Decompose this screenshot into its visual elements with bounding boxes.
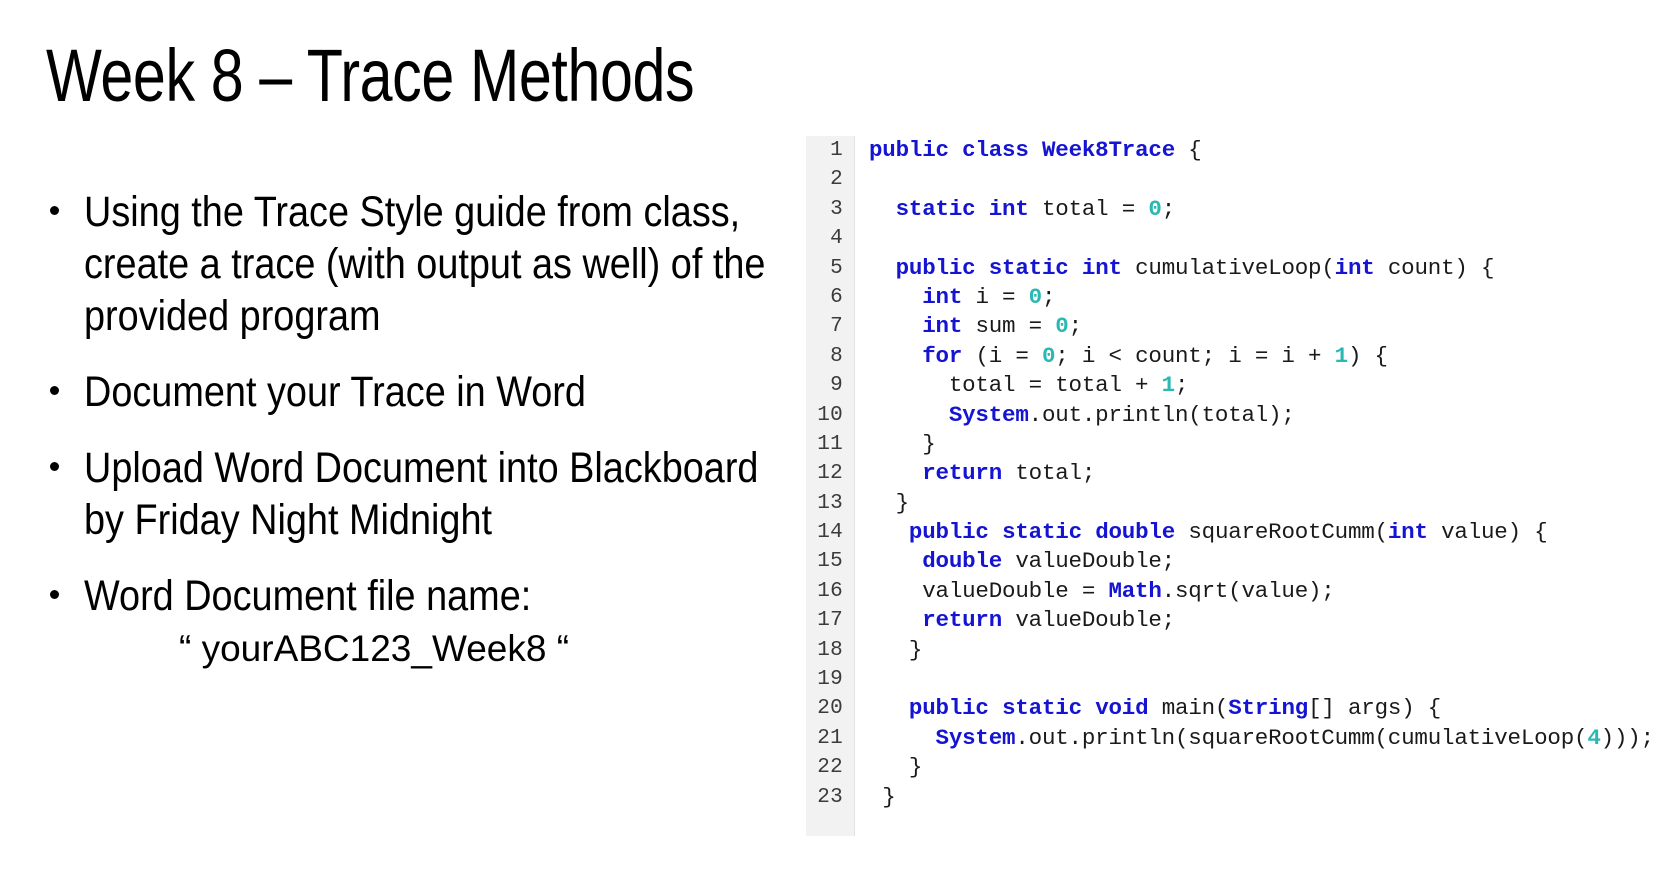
- list-item: Using the Trace Style guide from class, …: [34, 186, 804, 342]
- bullet-list: Using the Trace Style guide from class, …: [34, 186, 804, 696]
- bullet-dot-icon: [50, 386, 59, 395]
- code-line: 7 int sum = 0;: [806, 312, 1660, 341]
- code-text: static int total = 0;: [854, 195, 1660, 224]
- line-number: 9: [806, 371, 854, 400]
- code-line-list: 1public class Week8Trace {23 static int …: [806, 136, 1660, 812]
- line-number: 6: [806, 283, 854, 312]
- line-number: 8: [806, 342, 854, 371]
- code-text: }: [854, 430, 1660, 459]
- code-line: 15 double valueDouble;: [806, 547, 1660, 576]
- line-number: 12: [806, 459, 854, 488]
- code-text: int sum = 0;: [854, 312, 1660, 341]
- line-number: 10: [806, 401, 854, 430]
- code-line: 18 }: [806, 636, 1660, 665]
- line-number: 15: [806, 547, 854, 576]
- code-text: total = total + 1;: [854, 371, 1660, 400]
- list-item: Word Document file name: “ yourABC123_We…: [34, 570, 804, 672]
- code-line: 23 }: [806, 783, 1660, 812]
- code-line: 2: [806, 165, 1660, 194]
- code-listing-panel: 1public class Week8Trace {23 static int …: [806, 136, 1660, 836]
- line-number: 5: [806, 254, 854, 283]
- bullet-text: Upload Word Document into Blackboard by …: [84, 442, 800, 546]
- code-text: return total;: [854, 459, 1660, 488]
- code-text: public static void main(String[] args) {: [854, 694, 1660, 723]
- code-text: System.out.println(total);: [854, 401, 1660, 430]
- code-line: 13 }: [806, 489, 1660, 518]
- code-line: 11 }: [806, 430, 1660, 459]
- line-number: 16: [806, 577, 854, 606]
- code-text: int i = 0;: [854, 283, 1660, 312]
- code-text: }: [854, 753, 1660, 782]
- line-number: 17: [806, 606, 854, 635]
- line-number: 14: [806, 518, 854, 547]
- code-text: public static int cumulativeLoop(int cou…: [854, 254, 1660, 283]
- line-number: 11: [806, 430, 854, 459]
- bullet-text: Word Document file name:: [84, 570, 800, 622]
- code-line: 17 return valueDouble;: [806, 606, 1660, 635]
- code-line: 14 public static double squareRootCumm(i…: [806, 518, 1660, 547]
- code-text: double valueDouble;: [854, 547, 1660, 576]
- code-line: 9 total = total + 1;: [806, 371, 1660, 400]
- line-number: 22: [806, 753, 854, 782]
- code-line: 3 static int total = 0;: [806, 195, 1660, 224]
- code-line: 1public class Week8Trace {: [806, 136, 1660, 165]
- code-line: 8 for (i = 0; i < count; i = i + 1) {: [806, 342, 1660, 371]
- code-text: valueDouble = Math.sqrt(value);: [854, 577, 1660, 606]
- code-line: 5 public static int cumulativeLoop(int c…: [806, 254, 1660, 283]
- line-number: 7: [806, 312, 854, 341]
- bullet-dot-icon: [50, 462, 59, 471]
- code-text: return valueDouble;: [854, 606, 1660, 635]
- line-number: 19: [806, 665, 854, 694]
- line-number: 3: [806, 195, 854, 224]
- code-line: 22 }: [806, 753, 1660, 782]
- code-text: public class Week8Trace {: [854, 136, 1660, 165]
- code-line: 12 return total;: [806, 459, 1660, 488]
- line-number: 21: [806, 724, 854, 753]
- list-item: Upload Word Document into Blackboard by …: [34, 442, 804, 546]
- code-line: 19: [806, 665, 1660, 694]
- sub-bullet-filename: “ yourABC123_Week8 “: [84, 626, 804, 672]
- page-title: Week 8 – Trace Methods: [46, 34, 694, 118]
- bullet-dot-icon: [50, 590, 59, 599]
- line-number: 23: [806, 783, 854, 812]
- line-number: 13: [806, 489, 854, 518]
- code-line: 4: [806, 224, 1660, 253]
- code-line: 10 System.out.println(total);: [806, 401, 1660, 430]
- bullet-dot-icon: [50, 206, 59, 215]
- code-text: for (i = 0; i < count; i = i + 1) {: [854, 342, 1660, 371]
- line-number: 2: [806, 165, 854, 194]
- bullet-text: Using the Trace Style guide from class, …: [84, 186, 800, 342]
- line-number: 4: [806, 224, 854, 253]
- list-item: Document your Trace in Word: [34, 366, 804, 418]
- code-line: 20 public static void main(String[] args…: [806, 694, 1660, 723]
- line-number: 18: [806, 636, 854, 665]
- line-number: 20: [806, 694, 854, 723]
- bullet-text: Document your Trace in Word: [84, 366, 800, 418]
- code-text: System.out.println(squareRootCumm(cumula…: [854, 724, 1660, 753]
- code-text: }: [854, 636, 1660, 665]
- code-line: 21 System.out.println(squareRootCumm(cum…: [806, 724, 1660, 753]
- code-line: 6 int i = 0;: [806, 283, 1660, 312]
- code-line: 16 valueDouble = Math.sqrt(value);: [806, 577, 1660, 606]
- code-text: public static double squareRootCumm(int …: [854, 518, 1660, 547]
- line-number: 1: [806, 136, 854, 165]
- slide-canvas: Week 8 – Trace Methods Using the Trace S…: [0, 0, 1660, 872]
- code-text: }: [854, 489, 1660, 518]
- code-text: }: [854, 783, 1660, 812]
